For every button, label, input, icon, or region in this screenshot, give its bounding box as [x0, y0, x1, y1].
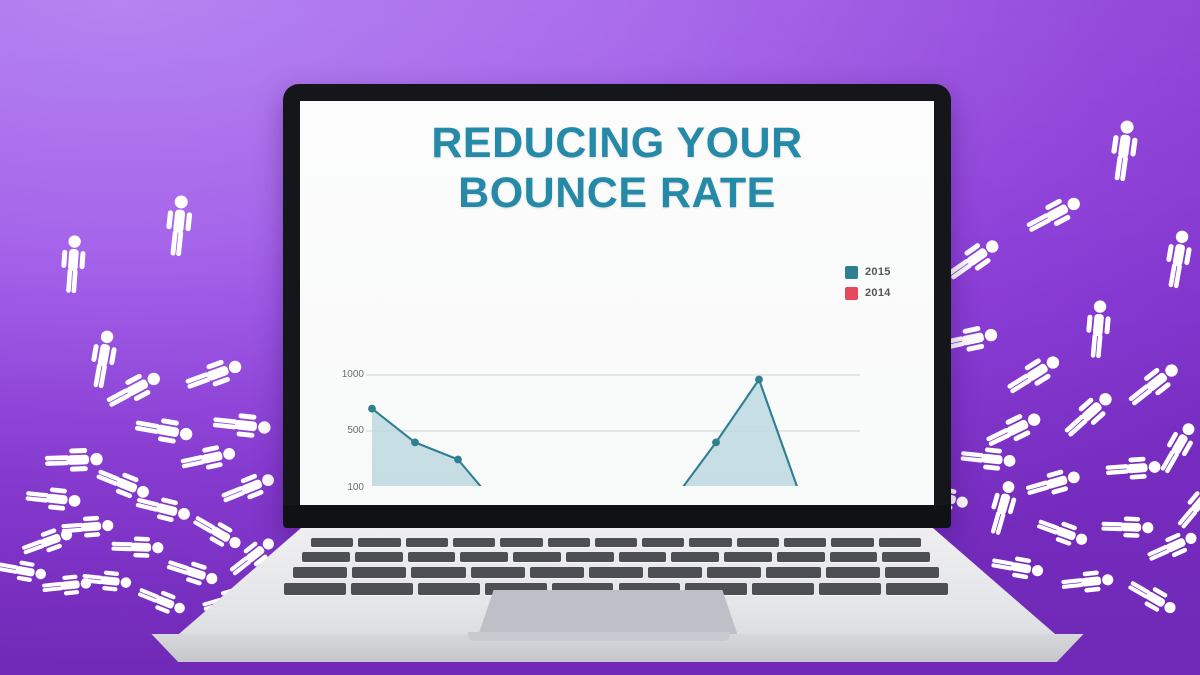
keyboard-key — [530, 567, 584, 578]
chart-svg — [300, 256, 934, 486]
keyboard-key — [418, 583, 480, 595]
keyboard-key — [879, 538, 921, 547]
keyboard-key — [642, 538, 684, 547]
slide-title-line-1: REDUCING YOUR — [300, 119, 934, 169]
keyboard-key — [352, 567, 406, 578]
keyboard-key — [548, 538, 590, 547]
keyboard-key — [351, 583, 413, 595]
laptop-base-lip — [468, 632, 730, 641]
keyboard-key — [284, 583, 346, 595]
keyboard-key — [671, 552, 719, 562]
keyboard-key — [882, 552, 930, 562]
keyboard-key — [595, 538, 637, 547]
keyboard-key — [406, 538, 448, 547]
keyboard-key — [500, 538, 542, 547]
keyboard-key — [737, 538, 779, 547]
legend-label-2014: 2014 — [865, 287, 891, 299]
keyboard-key — [302, 552, 350, 562]
keyboard-key — [408, 552, 456, 562]
legend-item-2015: 2015 — [845, 264, 891, 280]
keyboard-key — [566, 552, 614, 562]
keyboard-key — [471, 567, 525, 578]
laptop-illustration: REDUCING YOUR BOUNCE RATE 1000500100 Jan… — [0, 0, 1200, 675]
keyboard-key — [648, 567, 702, 578]
y-axis-tick-1000: 1000 — [318, 369, 364, 380]
legend-label-2015: 2015 — [865, 266, 891, 278]
keyboard-key — [358, 538, 400, 547]
keyboard-key — [589, 567, 643, 578]
keyboard-key — [707, 567, 761, 578]
slide-canvas: REDUCING YOUR BOUNCE RATE 1000500100 Jan… — [0, 0, 1200, 675]
laptop-keyboard — [172, 528, 1062, 598]
keyboard-key — [826, 567, 880, 578]
keyboard-key — [619, 552, 667, 562]
laptop-screen: REDUCING YOUR BOUNCE RATE 1000500100 Jan… — [300, 101, 934, 505]
keyboard-key — [830, 552, 878, 562]
keyboard-key — [513, 552, 561, 562]
keyboard-key — [293, 567, 347, 578]
area-chart: 1000500100 JanFebMarAprMayJunJulAugSepOc… — [300, 256, 934, 486]
keyboard-key — [819, 583, 881, 595]
y-axis-tick-500: 500 — [318, 425, 364, 436]
keyboard-key — [886, 583, 948, 595]
y-axis-tick-100: 100 — [318, 482, 364, 493]
data-point-2015-Jan — [368, 405, 376, 413]
laptop-trackpad — [478, 590, 738, 636]
keyboard-key — [777, 552, 825, 562]
keyboard-key — [766, 567, 820, 578]
data-point-2015-Feb — [411, 439, 419, 447]
slide-title: REDUCING YOUR BOUNCE RATE — [300, 119, 934, 219]
keyboard-key — [355, 552, 403, 562]
keyboard-key — [689, 538, 731, 547]
legend-item-2014: 2014 — [845, 285, 891, 301]
data-point-2015-Sep — [712, 439, 720, 447]
keyboard-key — [784, 538, 826, 547]
keyboard-key — [311, 538, 353, 547]
keyboard-key — [831, 538, 873, 547]
chart-legend: 20152014 — [845, 264, 891, 306]
series-area-2015 — [372, 380, 845, 487]
keyboard-key — [460, 552, 508, 562]
keyboard-key — [752, 583, 814, 595]
keyboard-key — [724, 552, 772, 562]
keyboard-key — [453, 538, 495, 547]
laptop-lid-chin — [283, 505, 951, 528]
keyboard-key — [885, 567, 939, 578]
keyboard-key — [411, 567, 465, 578]
slide-title-line-2: BOUNCE RATE — [300, 169, 934, 219]
data-point-2015-Mar — [454, 456, 462, 464]
legend-swatch-icon-2014 — [845, 287, 858, 300]
data-point-2015-Oct — [755, 376, 763, 384]
legend-swatch-icon-2015 — [845, 266, 858, 279]
